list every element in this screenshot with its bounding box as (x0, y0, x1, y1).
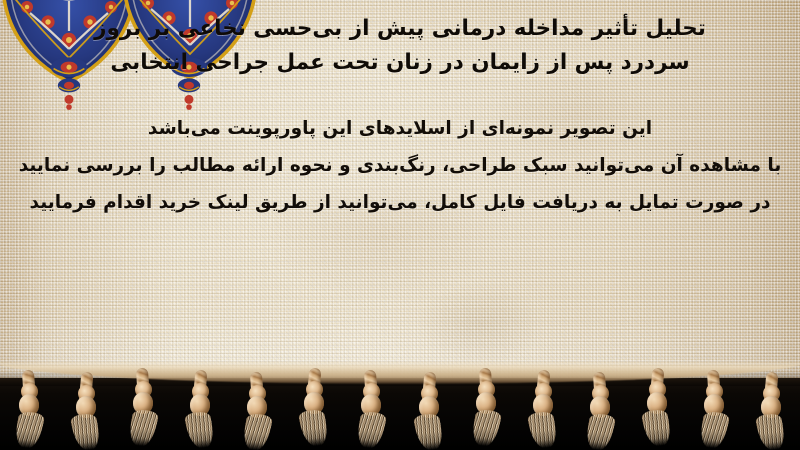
tassel-skirt (412, 413, 445, 450)
tassel-skirt (126, 409, 159, 447)
body-line-3: در صورت تمایل به دریافت فایل کامل، می‌تو… (10, 184, 790, 221)
tassel (526, 370, 560, 450)
tassel-skirt (584, 413, 617, 450)
tassel-skirt (526, 411, 559, 450)
slide-text-area: تحلیل تأثیر مداخله درمانی پیش از بی‌حسی … (0, 0, 800, 382)
tassel (12, 370, 46, 450)
tassel (469, 368, 503, 448)
tassel (754, 372, 788, 450)
title-line-1: تحلیل تأثیر مداخله درمانی پیش از بی‌حسی … (18, 12, 782, 46)
tassel (583, 372, 617, 450)
tassel-skirt (698, 411, 731, 449)
body-line-1: این تصویر نمونه‌ای از اسلایدهای این پاور… (10, 110, 790, 147)
title-line-2: سردرد پس از زایمان در زنان تحت عمل جراحی… (18, 46, 782, 80)
tassel (183, 370, 217, 450)
tassel-skirt (69, 413, 102, 450)
tassel-skirt (12, 411, 45, 449)
tassel (354, 370, 388, 450)
tassel (240, 372, 274, 450)
tassel-skirt (469, 409, 502, 447)
tassel-skirt (755, 413, 788, 450)
tassel (697, 370, 731, 450)
tassel-skirt (184, 411, 217, 450)
tassel (297, 368, 331, 448)
slide-body: این تصویر نمونه‌ای از اسلایدهای این پاور… (10, 110, 790, 221)
tassel (640, 368, 674, 448)
tassel (69, 372, 103, 450)
tassel-skirt (241, 413, 274, 450)
tassel-skirt (355, 411, 388, 449)
slide-canvas: تحلیل تأثیر مداخله درمانی پیش از بی‌حسی … (0, 0, 800, 450)
tassel (126, 368, 160, 448)
tassel-skirt (298, 409, 331, 448)
tassel (412, 372, 446, 450)
body-line-2: با مشاهده آن می‌توانید سبک طراحی، رنگ‌بن… (10, 147, 790, 184)
slide-title: تحلیل تأثیر مداخله درمانی پیش از بی‌حسی … (18, 12, 782, 80)
knotted-tassel-fringe (0, 370, 800, 450)
tassel-skirt (641, 409, 674, 448)
